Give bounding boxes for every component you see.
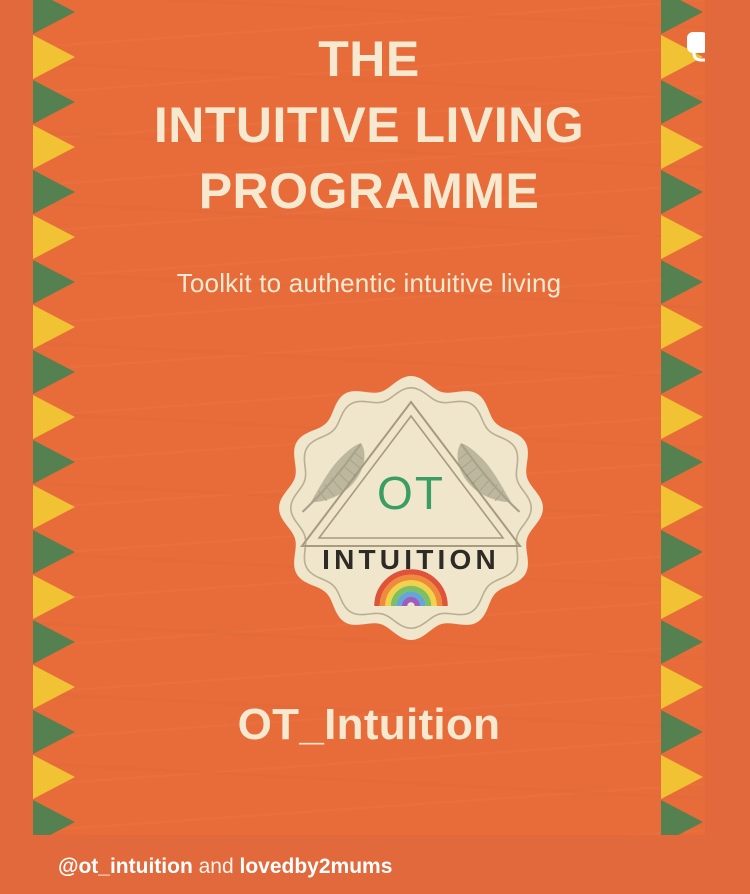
- post-caption: @ot_intuition and lovedby2mums: [58, 855, 392, 879]
- headline-line-3: PROGRAMME: [77, 158, 661, 224]
- zigzag-triangle: [33, 530, 75, 574]
- caption-collaborator[interactable]: lovedby2mums: [240, 855, 393, 878]
- badge-svg: OT INTUITION: [277, 374, 545, 642]
- zigzag-triangle: [33, 350, 75, 394]
- zigzag-triangle: [33, 125, 75, 169]
- app-root: THE INTUITIVE LIVING PROGRAMME Toolkit t…: [0, 0, 750, 894]
- zigzag-triangle: [661, 305, 703, 349]
- zigzag-triangle: [661, 800, 703, 835]
- zigzag-triangle: [33, 755, 75, 799]
- zigzag-border-left: [33, 0, 77, 835]
- caption-conjunction: and: [193, 855, 240, 878]
- zigzag-triangle: [33, 215, 75, 259]
- zigzag-triangle: [661, 575, 703, 619]
- zigzag-triangle: [33, 620, 75, 664]
- zigzag-triangle: [661, 755, 703, 799]
- zigzag-triangle: [661, 260, 703, 304]
- zigzag-triangle: [33, 440, 75, 484]
- post-card: THE INTUITIVE LIVING PROGRAMME Toolkit t…: [33, 0, 705, 835]
- zigzag-triangle: [661, 440, 703, 484]
- zigzag-triangle: [661, 395, 703, 439]
- zigzag-triangle: [33, 710, 75, 754]
- zigzag-triangle: [661, 80, 703, 124]
- zigzag-triangle: [661, 530, 703, 574]
- zigzag-triangle: [33, 305, 75, 349]
- brand-handle: OT_Intuition: [77, 700, 661, 750]
- zigzag-triangle: [33, 260, 75, 304]
- zigzag-triangle: [661, 620, 703, 664]
- brand-badge-logo: OT INTUITION: [277, 374, 545, 642]
- zigzag-border-right: [661, 0, 705, 835]
- zigzag-triangle: [33, 35, 75, 79]
- caption-account[interactable]: @ot_intuition: [58, 855, 193, 878]
- zigzag-triangle: [33, 80, 75, 124]
- zigzag-triangle: [661, 125, 703, 169]
- zigzag-triangle: [661, 170, 703, 214]
- copy-layers-icon[interactable]: [683, 28, 705, 68]
- zigzag-triangle: [33, 0, 75, 34]
- copy-layers-icon-svg: [683, 28, 705, 68]
- headline-line-1: THE: [77, 26, 661, 92]
- zigzag-triangle: [33, 665, 75, 709]
- zigzag-triangle: [33, 485, 75, 529]
- zigzag-triangle: [661, 485, 703, 529]
- zigzag-triangle: [661, 665, 703, 709]
- zigzag-triangle: [661, 350, 703, 394]
- zigzag-triangle: [33, 800, 75, 835]
- badge-monogram: OT: [377, 467, 445, 519]
- zigzag-triangle: [33, 575, 75, 619]
- zigzag-triangle: [661, 710, 703, 754]
- headline-line-2: INTUITIVE LIVING: [77, 92, 661, 158]
- zigzag-triangle: [661, 215, 703, 259]
- post-headline: THE INTUITIVE LIVING PROGRAMME: [77, 26, 661, 224]
- zigzag-triangle: [33, 395, 75, 439]
- post-subtitle: Toolkit to authentic intuitive living: [77, 268, 661, 299]
- zigzag-triangle: [33, 170, 75, 214]
